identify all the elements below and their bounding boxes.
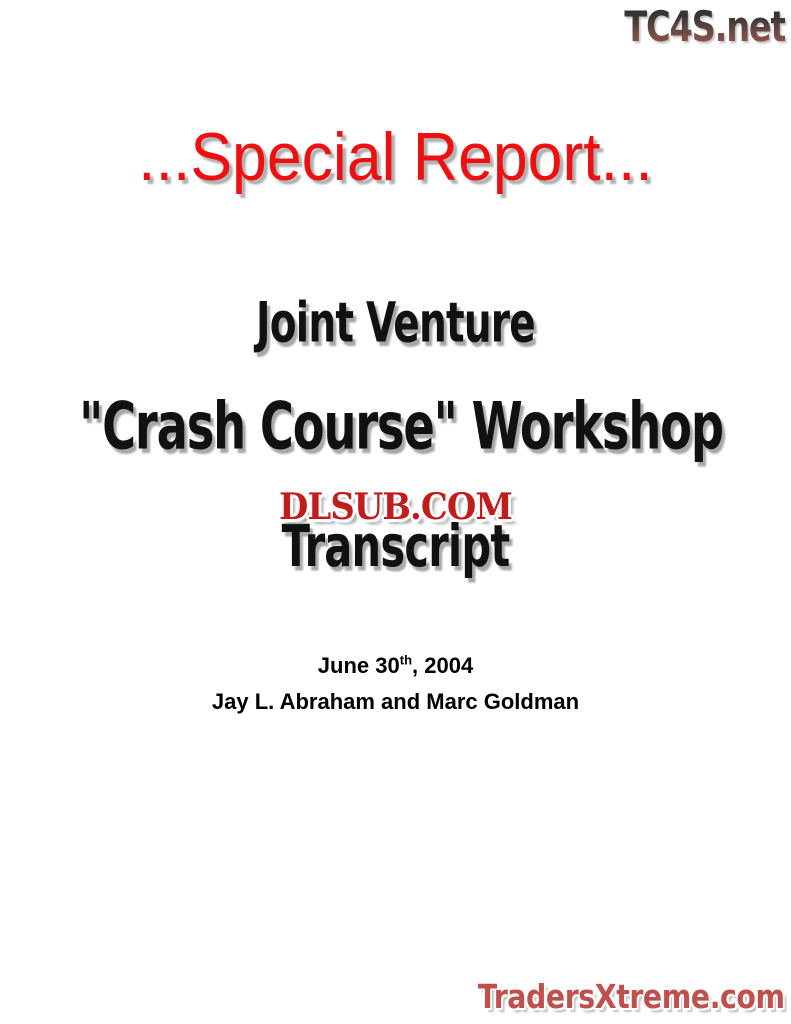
footer-logo-tradersxtreme: TradersXtreme.com (478, 978, 785, 1016)
publication-date: June 30th, 2004 (0, 652, 791, 680)
publication-date-ordinal: th (400, 653, 412, 668)
title-line-crash-course-workshop: "Crash Course" Workshop (79, 388, 712, 464)
authors-line: Jay L. Abraham and Marc Goldman (0, 688, 791, 716)
title-line-joint-venture: Joint Venture (87, 291, 704, 355)
document-page: TC4S.net ...Special Report... Joint Vent… (0, 0, 791, 1024)
report-kicker: ...Special Report... (32, 118, 760, 196)
brand-logo-tc4s: TC4S.net (624, 4, 785, 50)
watermark-dlsub: DLSUB.COM (24, 485, 768, 529)
publication-date-year: , 2004 (412, 653, 473, 678)
publication-date-day: June 30 (318, 653, 400, 678)
